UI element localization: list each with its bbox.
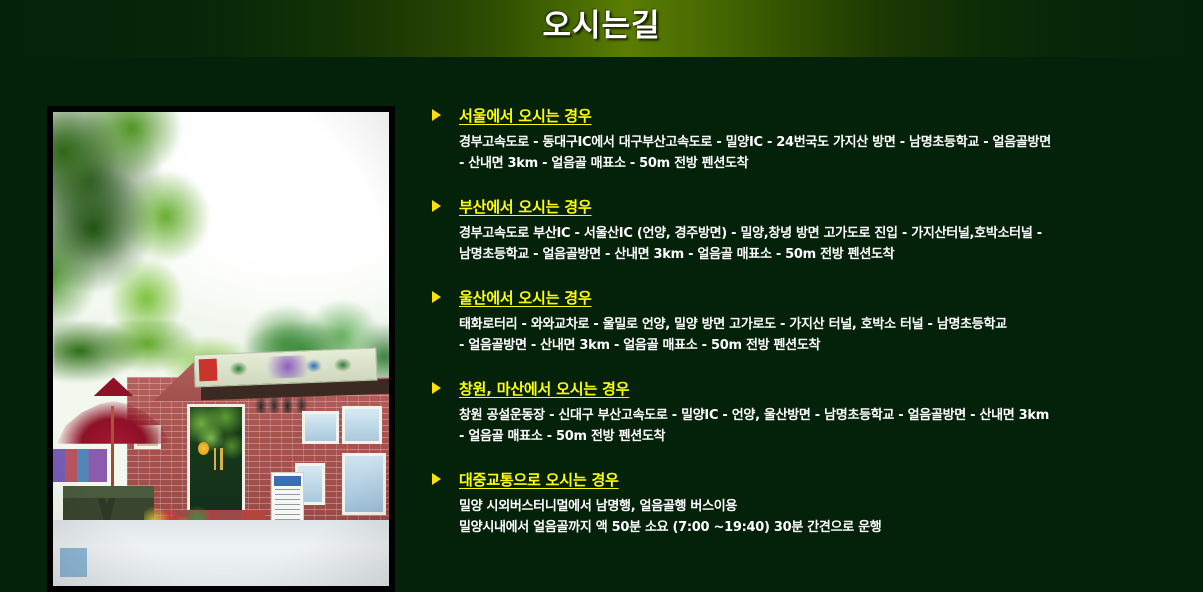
arrow-right-icon: [432, 291, 441, 303]
route-section-ulsan: 울산에서 오시는 경우 태화로터리 - 와와교차로 - 울밀로 언양, 밀양 방…: [430, 286, 1170, 356]
route-section-seoul: 서울에서 오시는 경우 경부고속도로 - 동대구IC에서 대구부산고속도로 - …: [430, 104, 1170, 174]
photo-door-emblem: [198, 442, 209, 455]
arrow-right-icon: [432, 382, 441, 394]
route-line: 창원 공설운동장 - 신대구 부산고속도로 - 밀양IC - 언양, 울산방면 …: [459, 405, 1170, 426]
route-line: 경부고속도로 부산IC - 서울산IC (언양, 경주방면) - 밀양,창녕 방…: [459, 223, 1170, 244]
route-line: 밀양 시외버스터니멀에서 남명행, 얼음골행 버스이용: [459, 496, 1170, 517]
photo-folded-parasols: [53, 449, 107, 482]
page-header-bar: 오시는길: [0, 0, 1203, 57]
route-section-public-transit: 대중교통으로 오시는 경우 밀양 시외버스터니멀에서 남명행, 얼음골행 버스이…: [430, 468, 1170, 538]
route-line: 경부고속도로 - 동대구IC에서 대구부산고속도로 - 밀양IC - 24번국도…: [459, 132, 1170, 153]
arrow-right-icon: [432, 473, 441, 485]
photo-sign-red-stamp: [198, 359, 217, 382]
route-line: - 얼음골방면 - 산내면 3km - 얼음골 매표소 - 50m 전방 펜션도…: [459, 335, 1170, 356]
directions-list: 서울에서 오시는 경우 경부고속도로 - 동대구IC에서 대구부산고속도로 - …: [430, 104, 1170, 538]
arrow-right-icon: [432, 109, 441, 121]
location-photo: [53, 112, 389, 586]
route-title-busan[interactable]: 부산에서 오시는 경우: [459, 196, 591, 217]
route-line: 밀양시내에서 얼음골까지 액 50분 소요 (7:00 ~19:40) 30분 …: [459, 517, 1170, 538]
route-line: 남명초등학교 - 얼음골방면 - 산내면 3km - 얼음골 매표소 - 50m…: [459, 244, 1170, 265]
route-heading: 울산에서 오시는 경우: [430, 286, 1170, 308]
route-section-busan: 부산에서 오시는 경우 경부고속도로 부산IC - 서울산IC (언양, 경주방…: [430, 195, 1170, 265]
photo-entrance-door: [187, 404, 244, 513]
photo-ground-object: [60, 548, 87, 576]
photo-table-top: [63, 486, 154, 497]
page-title: 오시는길: [0, 0, 1203, 57]
route-title-changwon-masan[interactable]: 창원, 마산에서 오시는 경우: [459, 378, 629, 399]
route-body-ulsan: 태화로터리 - 와와교차로 - 울밀로 언양, 밀양 방면 고가로도 - 가지산…: [430, 314, 1170, 356]
photo-ground: [53, 520, 389, 586]
route-section-changwon-masan: 창원, 마산에서 오시는 경우 창원 공설운동장 - 신대구 부산고속도로 - …: [430, 377, 1170, 447]
photo-door-handle-right: [220, 448, 223, 471]
photo-door-handle-left: [214, 448, 217, 471]
location-photo-frame: [47, 106, 395, 592]
route-body-public-transit: 밀양 시외버스터니멀에서 남명행, 얼음골행 버스이용 밀양시내에서 얼음골까지…: [430, 496, 1170, 538]
route-line: - 얼음골 매표소 - 50m 전방 펜션도착: [459, 426, 1170, 447]
route-line: - 산내면 3km - 얼음골 매표소 - 50m 전방 펜션도착: [459, 153, 1170, 174]
route-body-busan: 경부고속도로 부산IC - 서울산IC (언양, 경주방면) - 밀양,창녕 방…: [430, 223, 1170, 265]
route-body-changwon-masan: 창원 공설운동장 - 신대구 부산고속도로 - 밀양IC - 언양, 울산방면 …: [430, 405, 1170, 447]
photo-window-b: [342, 406, 382, 444]
route-title-ulsan[interactable]: 울산에서 오시는 경우: [459, 287, 591, 308]
route-heading: 창원, 마산에서 오시는 경우: [430, 377, 1170, 399]
photo-window-d: [342, 453, 386, 515]
page-content: 서울에서 오시는 경우 경부고속도로 - 동대구IC에서 대구부산고속도로 - …: [0, 57, 1203, 578]
route-line: 태화로터리 - 와와교차로 - 울밀로 언양, 밀양 방면 고가로도 - 가지산…: [459, 314, 1170, 335]
route-body-seoul: 경부고속도로 - 동대구IC에서 대구부산고속도로 - 밀양IC - 24번국도…: [430, 132, 1170, 174]
route-title-seoul[interactable]: 서울에서 오시는 경우: [459, 105, 591, 126]
photo-menu-board-header: [274, 476, 301, 486]
route-heading: 부산에서 오시는 경우: [430, 195, 1170, 217]
route-heading: 서울에서 오시는 경우: [430, 104, 1170, 126]
photo-window-a: [302, 411, 339, 444]
arrow-right-icon: [432, 200, 441, 212]
route-heading: 대중교통으로 오시는 경우: [430, 468, 1170, 490]
route-title-public-transit[interactable]: 대중교통으로 오시는 경우: [459, 469, 619, 490]
photo-sign-lettering: [224, 353, 370, 380]
